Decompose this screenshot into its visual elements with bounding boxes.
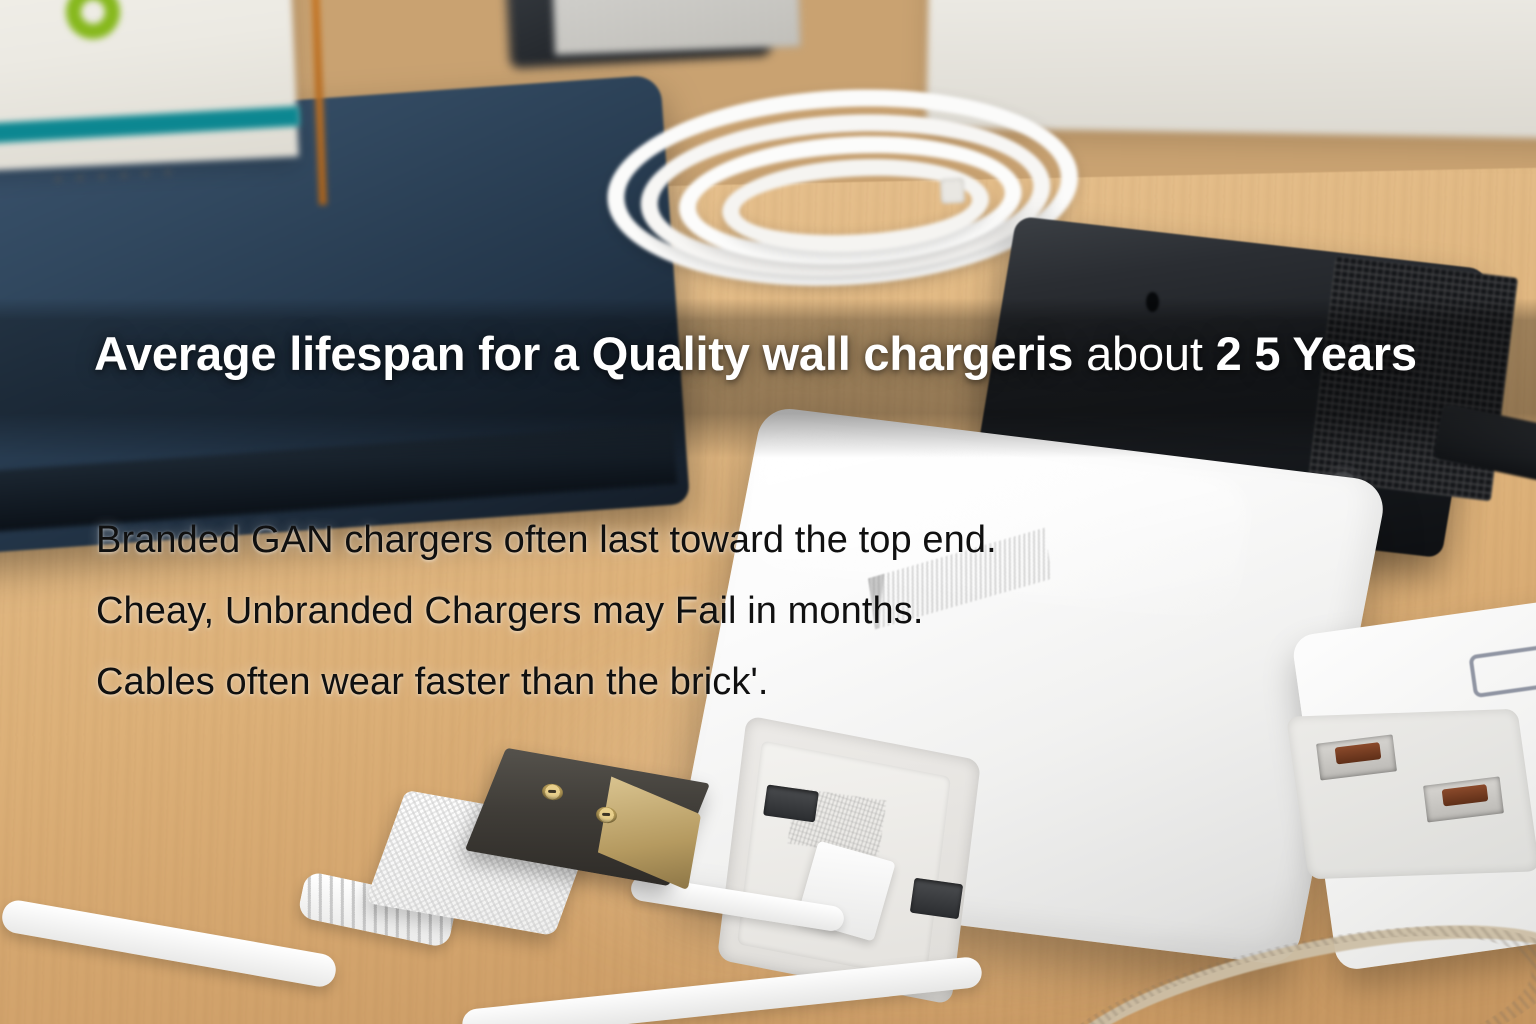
product-box-left [0, 0, 299, 171]
headline-part-2: about [1086, 327, 1203, 380]
black-charger-port [1146, 292, 1159, 312]
body-line-3: Cables often wear faster than the brick'… [96, 647, 1396, 718]
headline: Average lifespan for a Quality wall char… [94, 322, 1474, 385]
promo-image-canvas: Average lifespan for a Quality wall char… [0, 0, 1536, 1024]
body-line-2: Cheay, Unbranded Chargers may Fail in mo… [96, 576, 1396, 647]
body-line-1: Branded GAN chargers often last toward t… [96, 505, 1396, 576]
perforated-grey-panel [551, 0, 800, 55]
headline-part-3: 2 5 Years [1216, 327, 1417, 380]
uk-plug-pin-slot-bottom [910, 877, 964, 918]
cable-clip [940, 178, 965, 204]
headline-part-1: Average lifespan for a Quality wall char… [94, 327, 1073, 380]
dual-usb-charger-logo-icon [1469, 645, 1536, 698]
body-text-block: Branded GAN chargers often last toward t… [96, 505, 1396, 718]
